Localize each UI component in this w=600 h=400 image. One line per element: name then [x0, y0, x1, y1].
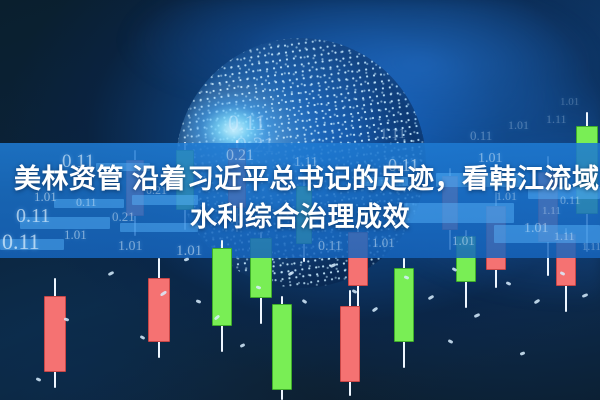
candlestick-down — [44, 278, 66, 388]
floating-number: 1.11 — [546, 112, 567, 127]
candlestick-body — [394, 268, 414, 342]
band-number: 1.11 — [582, 241, 600, 253]
band-number: 1.01 — [372, 235, 395, 251]
candlestick-up — [272, 296, 292, 400]
band-number: 1.01 — [176, 243, 202, 258]
candlestick-body — [340, 306, 360, 382]
floating-number: 1.01 — [560, 96, 579, 108]
banner-image: 0.110.211.110.111.011.111.01 0.111.010.1… — [0, 0, 600, 400]
floating-number: 0.11 — [470, 128, 492, 144]
candlestick-body — [272, 304, 292, 390]
candlestick-body — [44, 296, 66, 372]
floating-number: 1.11 — [380, 126, 406, 143]
candlestick-down — [148, 258, 170, 358]
title-line-1: 美林资管 沿着习近平总书记的足迹，看韩江流域 — [8, 160, 592, 198]
title-line-2: 水利综合治理成效 — [8, 198, 592, 236]
candlestick-body — [148, 278, 170, 342]
candlestick-up — [212, 240, 232, 352]
candlestick-down — [340, 290, 360, 396]
band-number: 1.01 — [118, 239, 143, 255]
band-number: 0.11 — [318, 239, 342, 255]
floating-number: 1.01 — [508, 118, 529, 133]
title-block: 美林资管 沿着习近平总书记的足迹，看韩江流域 水利综合治理成效 — [0, 160, 600, 236]
candlestick-body — [212, 248, 232, 326]
